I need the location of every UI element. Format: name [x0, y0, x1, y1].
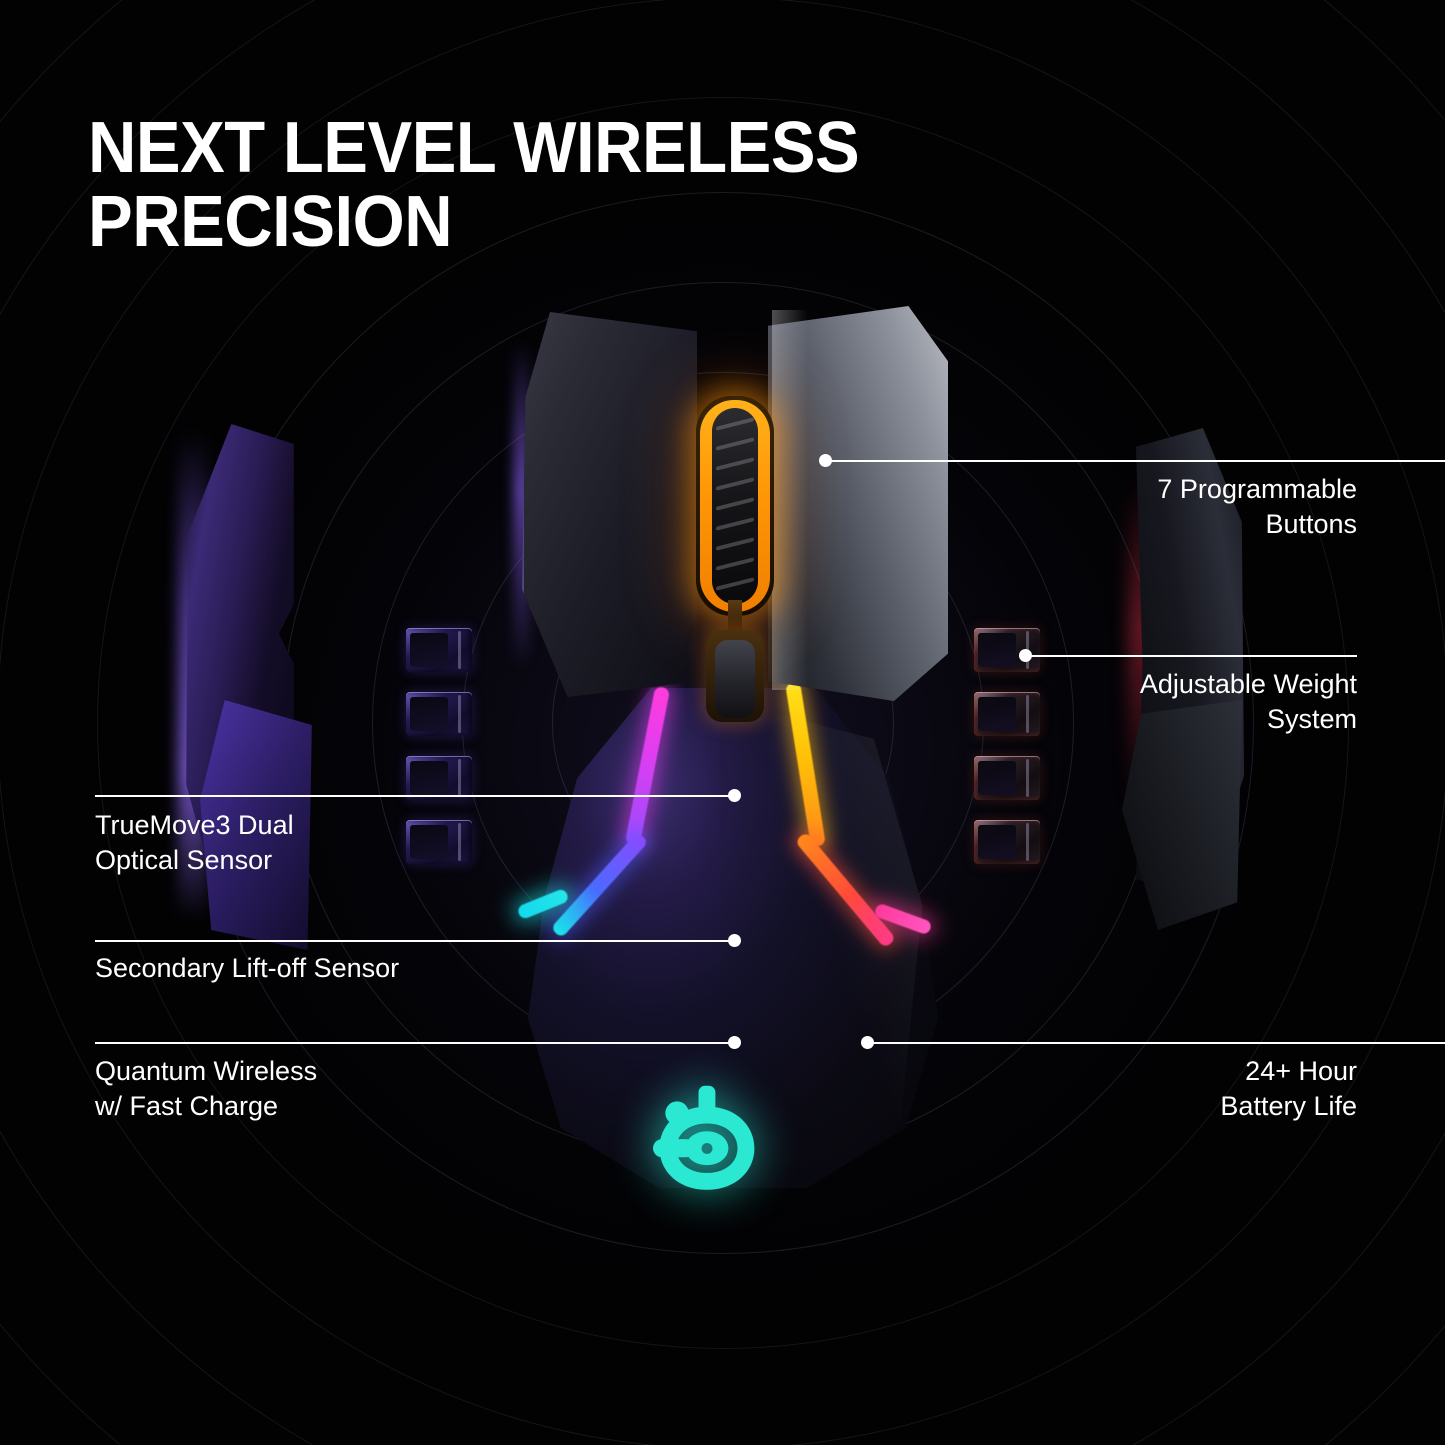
callout-label: 7 Programmable Buttons: [1045, 472, 1357, 541]
product-infographic: NEXT LEVEL WIRELESS PRECISION: [0, 0, 1445, 1445]
leader-line: [867, 1042, 1445, 1044]
leader-line: [95, 940, 735, 942]
steelseries-logo: [640, 1078, 770, 1208]
weight-module: [406, 756, 472, 800]
leader-line: [95, 1042, 735, 1044]
weight-module: [406, 692, 472, 736]
leader-dot: [728, 789, 741, 802]
leader-dot: [728, 934, 741, 947]
scroll-wheel: [712, 408, 758, 604]
right-button-highlight: [772, 310, 808, 690]
leader-line: [825, 460, 1445, 462]
weight-module: [974, 756, 1040, 800]
leader-line: [1025, 655, 1357, 657]
leader-dot: [728, 1036, 741, 1049]
callout-label: Quantum Wireless w/ Fast Charge: [95, 1054, 515, 1123]
callout-label: Secondary Lift-off Sensor: [95, 951, 595, 986]
leader-line: [95, 795, 735, 797]
weight-module: [974, 820, 1040, 864]
weight-module: [974, 692, 1040, 736]
left-click-button: [522, 312, 697, 697]
dpi-button: [715, 640, 755, 718]
callout-label: 24+ Hour Battery Life: [1045, 1054, 1357, 1123]
callout-label: Adjustable Weight System: [1045, 667, 1357, 736]
weight-module: [406, 628, 472, 672]
callout-label: TrueMove3 Dual Optical Sensor: [95, 808, 515, 877]
